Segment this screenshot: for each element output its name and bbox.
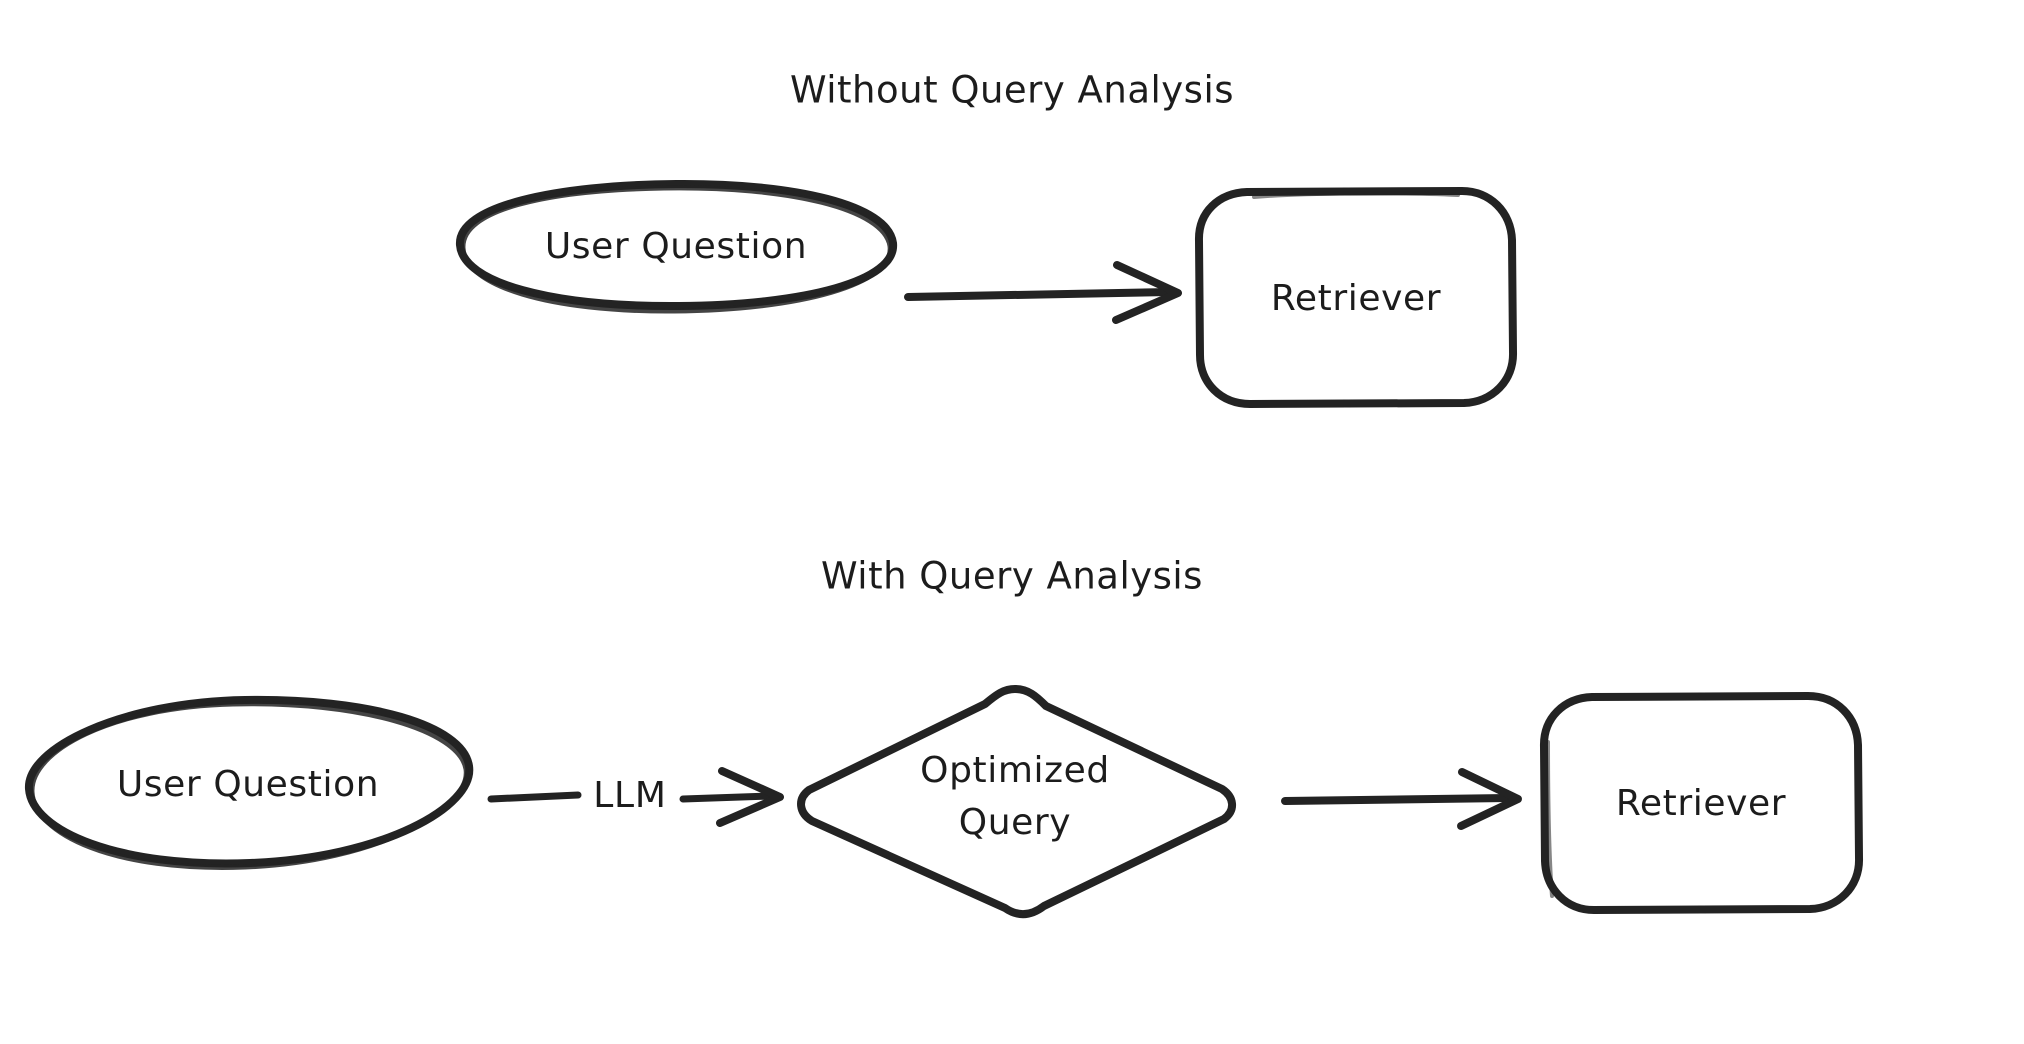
diagram-canvas: Without Query Analysis User Question Ret… [0, 0, 2024, 1044]
node-retriever-top[interactable]: Retriever [1199, 191, 1513, 404]
node-label-retriever-bottom: Retriever [1616, 783, 1786, 824]
section-title-with-query-analysis: With Query Analysis [821, 555, 1203, 598]
node-user-question-bottom[interactable]: User Question [29, 700, 469, 868]
node-optimized-query[interactable]: Optimized Query [801, 689, 1232, 914]
diagram-svg: Without Query Analysis User Question Ret… [0, 0, 2024, 1044]
edge-bottom-2-arrow [1285, 772, 1518, 826]
node-user-question-top[interactable]: User Question [460, 184, 893, 311]
node-label-user-question-top: User Question [545, 226, 807, 267]
node-label-optimized-query-line-1: Optimized [920, 750, 1110, 791]
node-label-optimized-query-line-2: Query [959, 802, 1071, 843]
edge-top-arrow [908, 265, 1178, 320]
node-label-user-question-bottom: User Question [117, 764, 379, 805]
section-title-without-query-analysis: Without Query Analysis [790, 69, 1234, 112]
node-label-retriever-top: Retriever [1271, 278, 1441, 319]
edge-label-llm: LLM [593, 775, 667, 816]
node-retriever-bottom[interactable]: Retriever [1544, 696, 1859, 910]
